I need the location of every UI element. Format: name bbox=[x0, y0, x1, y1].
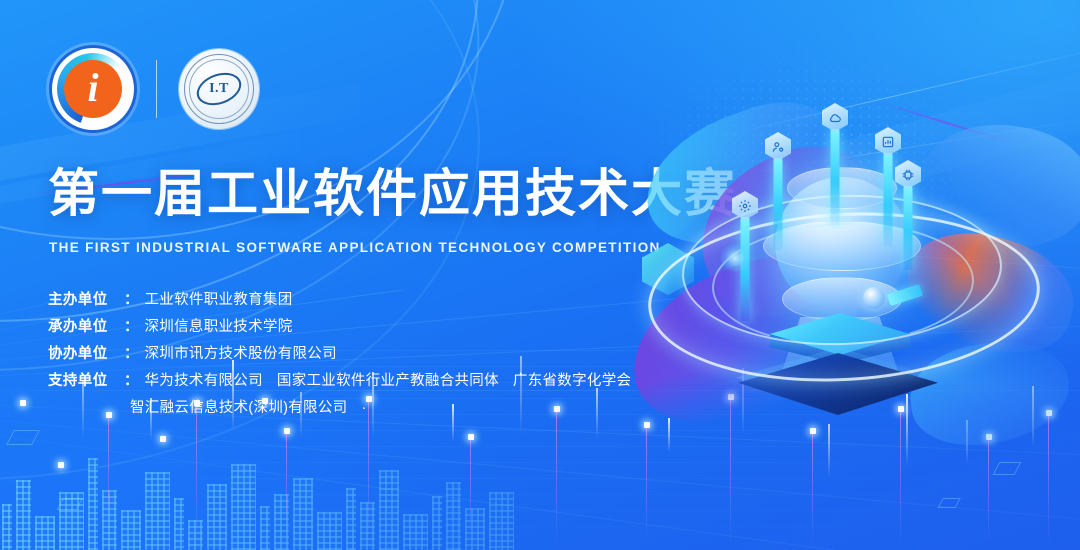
accent-thin-line bbox=[812, 430, 813, 544]
settings-icon bbox=[732, 191, 758, 220]
glow-dot bbox=[58, 462, 64, 468]
outline-hex-decoration bbox=[6, 430, 40, 445]
information-i-logo: i bbox=[52, 48, 134, 130]
chip-icon bbox=[895, 160, 921, 189]
building bbox=[317, 512, 342, 550]
horizon-line bbox=[0, 478, 1080, 479]
logo-group: i I.T bbox=[52, 48, 259, 130]
organization-value: 深圳信息职业技术学院 bbox=[145, 315, 293, 336]
building bbox=[207, 484, 227, 550]
horizon-line bbox=[0, 494, 1080, 495]
glow-dot bbox=[160, 436, 166, 442]
building bbox=[2, 504, 12, 550]
node-user-pole bbox=[774, 158, 783, 250]
building bbox=[379, 470, 399, 550]
information-i-logo-glyph: i bbox=[87, 68, 98, 108]
sziit-seal-mark: I.T bbox=[196, 74, 242, 104]
organization-value: 深圳市讯方技术股份有限公司 bbox=[145, 342, 337, 363]
accent-thin-line bbox=[556, 408, 557, 546]
building bbox=[465, 508, 485, 550]
outline-hex-decoration bbox=[57, 498, 83, 510]
building bbox=[231, 464, 256, 550]
organization-list: 主办单位：工业软件职业教育集团承办单位：深圳信息职业技术学院协办单位：深圳市讯方… bbox=[48, 288, 631, 423]
accent-thin-line bbox=[470, 436, 471, 540]
horizon-line bbox=[0, 462, 1080, 463]
node-cloud-pole bbox=[831, 129, 840, 225]
organization-colon: ： bbox=[124, 369, 139, 390]
organization-row: 主办单位：工业软件职业教育集团 bbox=[48, 288, 631, 309]
outline-hex-decoration bbox=[937, 498, 961, 508]
node-cloud bbox=[822, 103, 848, 225]
accent-thin-line bbox=[196, 402, 197, 544]
organization-label: 承办单位 bbox=[48, 315, 124, 336]
building bbox=[260, 506, 270, 550]
organization-row-continued: 智汇融云信息技术(深圳)有限公司· bbox=[130, 396, 631, 417]
glow-dot bbox=[468, 434, 474, 440]
building bbox=[145, 472, 170, 550]
sziit-seal-logo: I.T bbox=[179, 49, 259, 129]
building bbox=[188, 520, 203, 550]
industrial-software-globe-illustration bbox=[620, 95, 1080, 445]
organization-colon: ： bbox=[124, 288, 139, 309]
building bbox=[432, 496, 442, 550]
building bbox=[346, 488, 356, 550]
node-chip-pole bbox=[904, 186, 913, 270]
organization-colon: ： bbox=[124, 315, 139, 336]
node-user bbox=[765, 132, 791, 250]
organization-value: 工业软件职业教育集团 bbox=[145, 288, 293, 309]
building bbox=[274, 494, 289, 550]
data-chart-icon bbox=[875, 127, 901, 156]
horizon-line bbox=[0, 446, 1080, 447]
user-gear-icon bbox=[765, 132, 791, 161]
organization-row: 协办单位：深圳市讯方技术股份有限公司 bbox=[48, 342, 631, 363]
building bbox=[360, 502, 375, 550]
building bbox=[403, 514, 428, 550]
organization-label: 支持单位 bbox=[48, 369, 124, 390]
competition-banner: i I.T 第一届工业软件应用技术大赛 THE FIRST INDUSTRIAL… bbox=[0, 0, 1080, 550]
sziit-seal-glyph: I.T bbox=[209, 81, 229, 97]
accent-thin-line bbox=[108, 414, 109, 534]
organization-value: 智汇融云信息技术(深圳)有限公司· bbox=[130, 396, 367, 417]
building bbox=[446, 482, 461, 550]
building bbox=[35, 516, 55, 550]
accent-thin-line bbox=[988, 436, 989, 542]
building bbox=[489, 492, 514, 550]
building bbox=[88, 458, 98, 550]
building bbox=[121, 510, 141, 550]
horizon-line bbox=[0, 510, 1080, 511]
building bbox=[293, 478, 313, 550]
organization-value: 华为技术有限公司国家工业软件行业产教融合共同体广东省数字化学会 bbox=[145, 369, 632, 390]
glow-dot bbox=[20, 400, 26, 406]
organization-label: 协办单位 bbox=[48, 342, 124, 363]
building bbox=[102, 490, 117, 550]
glow-dot bbox=[284, 428, 290, 434]
building bbox=[174, 498, 184, 550]
building bbox=[59, 492, 84, 550]
accent-thin-line bbox=[286, 430, 287, 540]
page-subtitle: THE FIRST INDUSTRIAL SOFTWARE APPLICATIO… bbox=[49, 240, 661, 255]
organization-row: 支持单位：华为技术有限公司国家工业软件行业产教融合共同体广东省数字化学会 bbox=[48, 369, 631, 390]
information-i-logo-core: i bbox=[64, 60, 122, 118]
node-chip bbox=[895, 160, 921, 270]
outline-hex-decoration bbox=[993, 462, 1022, 475]
glow-accent-left bbox=[720, 243, 750, 273]
organization-row: 承办单位：深圳信息职业技术学院 bbox=[48, 315, 631, 336]
horizon-line bbox=[0, 526, 1080, 527]
logo-divider bbox=[156, 60, 157, 118]
building bbox=[16, 480, 31, 550]
city-skyline bbox=[0, 410, 430, 550]
organization-label: 主办单位 bbox=[48, 288, 124, 309]
node-data-pole bbox=[884, 153, 893, 247]
cloud-icon bbox=[822, 103, 848, 132]
organization-colon: ： bbox=[124, 342, 139, 363]
